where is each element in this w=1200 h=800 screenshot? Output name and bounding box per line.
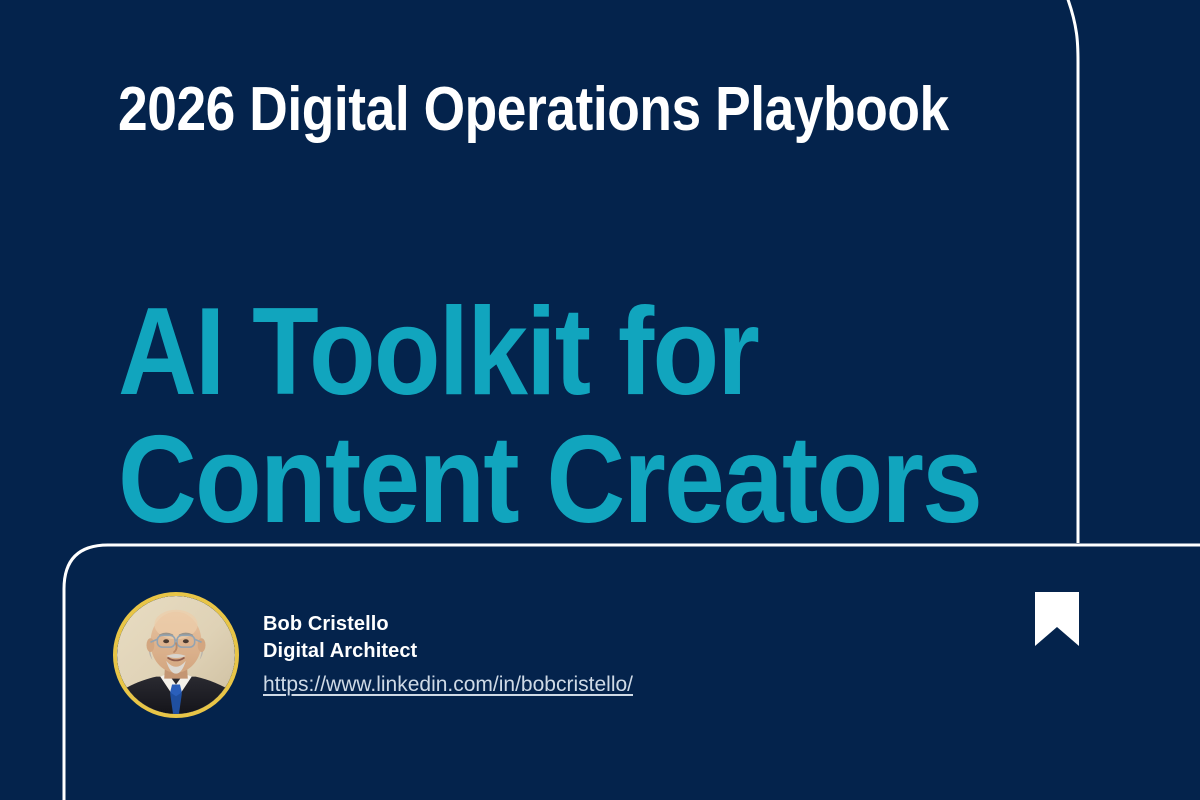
eyebrow-text: 2026 Digital Operations Playbook xyxy=(118,78,892,142)
byline: Bob Cristello Digital Architect https://… xyxy=(113,592,633,718)
avatar-photo-icon xyxy=(117,596,235,714)
avatar xyxy=(113,592,239,718)
person-role: Digital Architect xyxy=(263,638,633,665)
bookmark-icon[interactable] xyxy=(1034,591,1080,647)
profile-link[interactable]: https://www.linkedin.com/in/bobcristello… xyxy=(263,672,633,698)
bookmark-button[interactable] xyxy=(1034,591,1080,647)
person-name: Bob Cristello xyxy=(263,611,633,638)
page-title-line-2: Content Creators xyxy=(118,416,1077,544)
page-title-line-1: AI Toolkit for xyxy=(118,288,1077,416)
page-title: AI Toolkit for Content Creators xyxy=(118,288,1200,544)
byline-text-block: Bob Cristello Digital Architect https://… xyxy=(263,611,633,700)
slide-canvas: 2026 Digital Operations Playbook AI Tool… xyxy=(0,0,1200,800)
